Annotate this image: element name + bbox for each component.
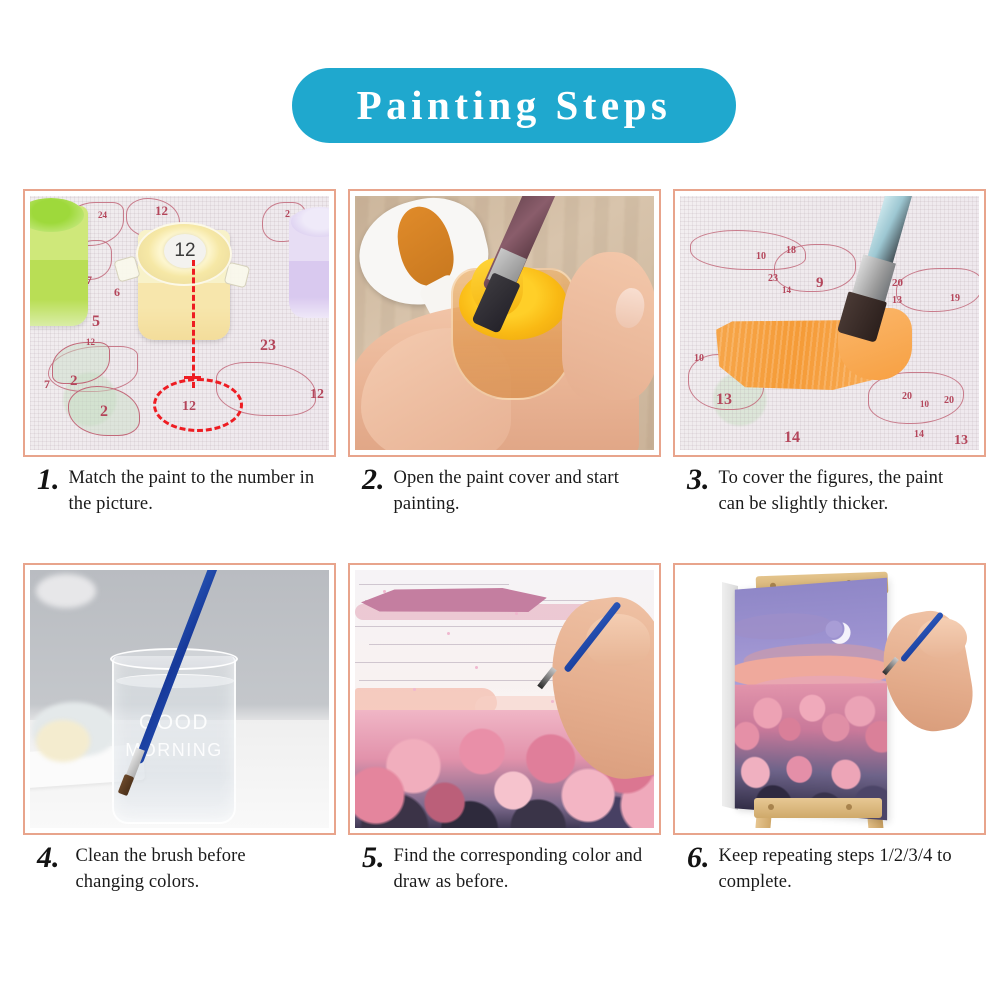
step-6-frame — [673, 563, 986, 835]
step-5-photo — [355, 570, 654, 828]
step-2-image-cell — [348, 189, 661, 457]
canvas-number: 13 — [892, 296, 902, 306]
canvas-number: 12 — [310, 388, 324, 402]
canvas-number: 12 — [155, 204, 168, 217]
step-1-image-cell: 12 24 2 7 6 5 12 2 7 2 23 12 — [23, 189, 336, 457]
step-5-image-cell — [348, 563, 661, 835]
canvas-number: 2 — [70, 374, 78, 389]
step-6-text: Keep repeating steps 1/2/3/4 to complete… — [719, 843, 969, 895]
step-1-caption: 1. Match the paint to the number in the … — [23, 457, 336, 563]
canvas-dot — [447, 632, 450, 635]
step-5-frame — [348, 563, 661, 835]
step-4-caption: 4. Clean the brush before changing color… — [23, 835, 336, 941]
step-2-number: 2. — [362, 465, 385, 495]
canvas-number: 10 — [920, 400, 929, 409]
guide-dashed-line — [192, 260, 195, 388]
canvas-number: 13 — [954, 434, 968, 448]
glass-text-line-1: GOOD — [112, 710, 236, 735]
finished-painting — [735, 578, 887, 821]
canvas-number: 2 — [100, 404, 108, 420]
canvas-number: 14 — [914, 430, 924, 440]
page-title: Painting Steps — [357, 85, 672, 126]
easel-shelf — [754, 798, 882, 818]
guide-target-number: 12 — [182, 399, 196, 415]
guide-dashed-ellipse — [153, 378, 243, 432]
canvas-number: 10 — [756, 252, 766, 262]
step-1-frame: 12 24 2 7 6 5 12 2 7 2 23 12 — [23, 189, 336, 457]
step-3-image-cell: 10 18 23 14 9 20 13 19 10 20 13 14 20 10… — [673, 189, 986, 457]
outline-line — [355, 662, 575, 663]
step-6-image-cell — [673, 563, 986, 835]
canvas-number: 18 — [786, 246, 796, 256]
canvas-dot — [475, 666, 478, 669]
paint-pot-number-badge: 12 — [164, 234, 206, 268]
step-5-number: 5. — [362, 843, 385, 873]
canvas-number: 6 — [114, 286, 120, 298]
step-2-frame — [348, 189, 661, 457]
canvas-number: 20 — [892, 278, 903, 289]
step-2-caption: 2. Open the paint cover and start painti… — [348, 457, 661, 563]
step-4-number: 4. — [37, 843, 60, 873]
step-4-image-cell: GOOD MORNING — [23, 563, 336, 835]
canvas-number: 10 — [694, 354, 704, 364]
step-1-text: Match the paint to the number in the pic… — [69, 465, 319, 517]
canvas-dot — [413, 688, 416, 691]
step-3-frame: 10 18 23 14 9 20 13 19 10 20 13 14 20 10… — [673, 189, 986, 457]
canvas-number: 5 — [92, 314, 100, 330]
step-5-text: Find the corresponding color and draw as… — [394, 843, 644, 895]
step-5-caption: 5. Find the corresponding color and draw… — [348, 835, 661, 941]
step-6-caption: 6. Keep repeating steps 1/2/3/4 to compl… — [673, 835, 986, 941]
step-4-photo: GOOD MORNING — [30, 570, 329, 828]
step-3-number: 3. — [687, 465, 710, 495]
painting-steps-infographic: Painting Steps 12 24 2 — [0, 0, 1000, 1000]
step-3-text: To cover the figures, the paint can be s… — [719, 465, 969, 517]
canvas-number: 12 — [86, 338, 95, 347]
canvas-number: 20 — [944, 396, 954, 406]
step-6-number: 6. — [687, 843, 710, 873]
paint-pot-green — [30, 206, 88, 326]
canvas-number: 7 — [44, 378, 50, 390]
outline-line — [359, 584, 509, 585]
page-title-banner: Painting Steps — [292, 68, 736, 143]
canvas-number: 13 — [716, 392, 732, 408]
canvas-outline-shape — [896, 268, 979, 312]
step-2-text: Open the paint cover and start painting. — [394, 465, 644, 517]
canvas-dot — [551, 700, 554, 703]
steps-grid: 12 24 2 7 6 5 12 2 7 2 23 12 — [23, 189, 987, 919]
step-3-caption: 3. To cover the figures, the paint can b… — [673, 457, 986, 563]
canvas-dot — [515, 612, 518, 615]
canvas-number: 23 — [768, 274, 778, 284]
paint-pot-purple — [289, 214, 329, 318]
finger — [562, 252, 654, 400]
knuckles — [586, 614, 650, 666]
canvas-number: 23 — [260, 338, 276, 354]
step-3-photo: 10 18 23 14 9 20 13 19 10 20 13 14 20 10… — [680, 196, 979, 450]
background-object — [36, 720, 90, 762]
canvas-number: 20 — [902, 392, 912, 402]
canvas-number: 24 — [98, 211, 107, 220]
canvas-number: 14 — [782, 286, 791, 295]
background-object — [36, 574, 96, 608]
step-6-photo — [680, 570, 979, 828]
step-4-text: Clean the brush before changing colors. — [69, 843, 319, 895]
step-4-frame: GOOD MORNING — [23, 563, 336, 835]
canvas-number: 19 — [950, 294, 960, 304]
canvas-number: 9 — [816, 276, 824, 291]
canvas-number: 14 — [784, 430, 800, 446]
canvas-dot — [383, 590, 386, 593]
step-1-number: 1. — [37, 465, 60, 495]
step-1-photo: 12 24 2 7 6 5 12 2 7 2 23 12 — [30, 196, 329, 450]
step-2-photo — [355, 196, 654, 450]
